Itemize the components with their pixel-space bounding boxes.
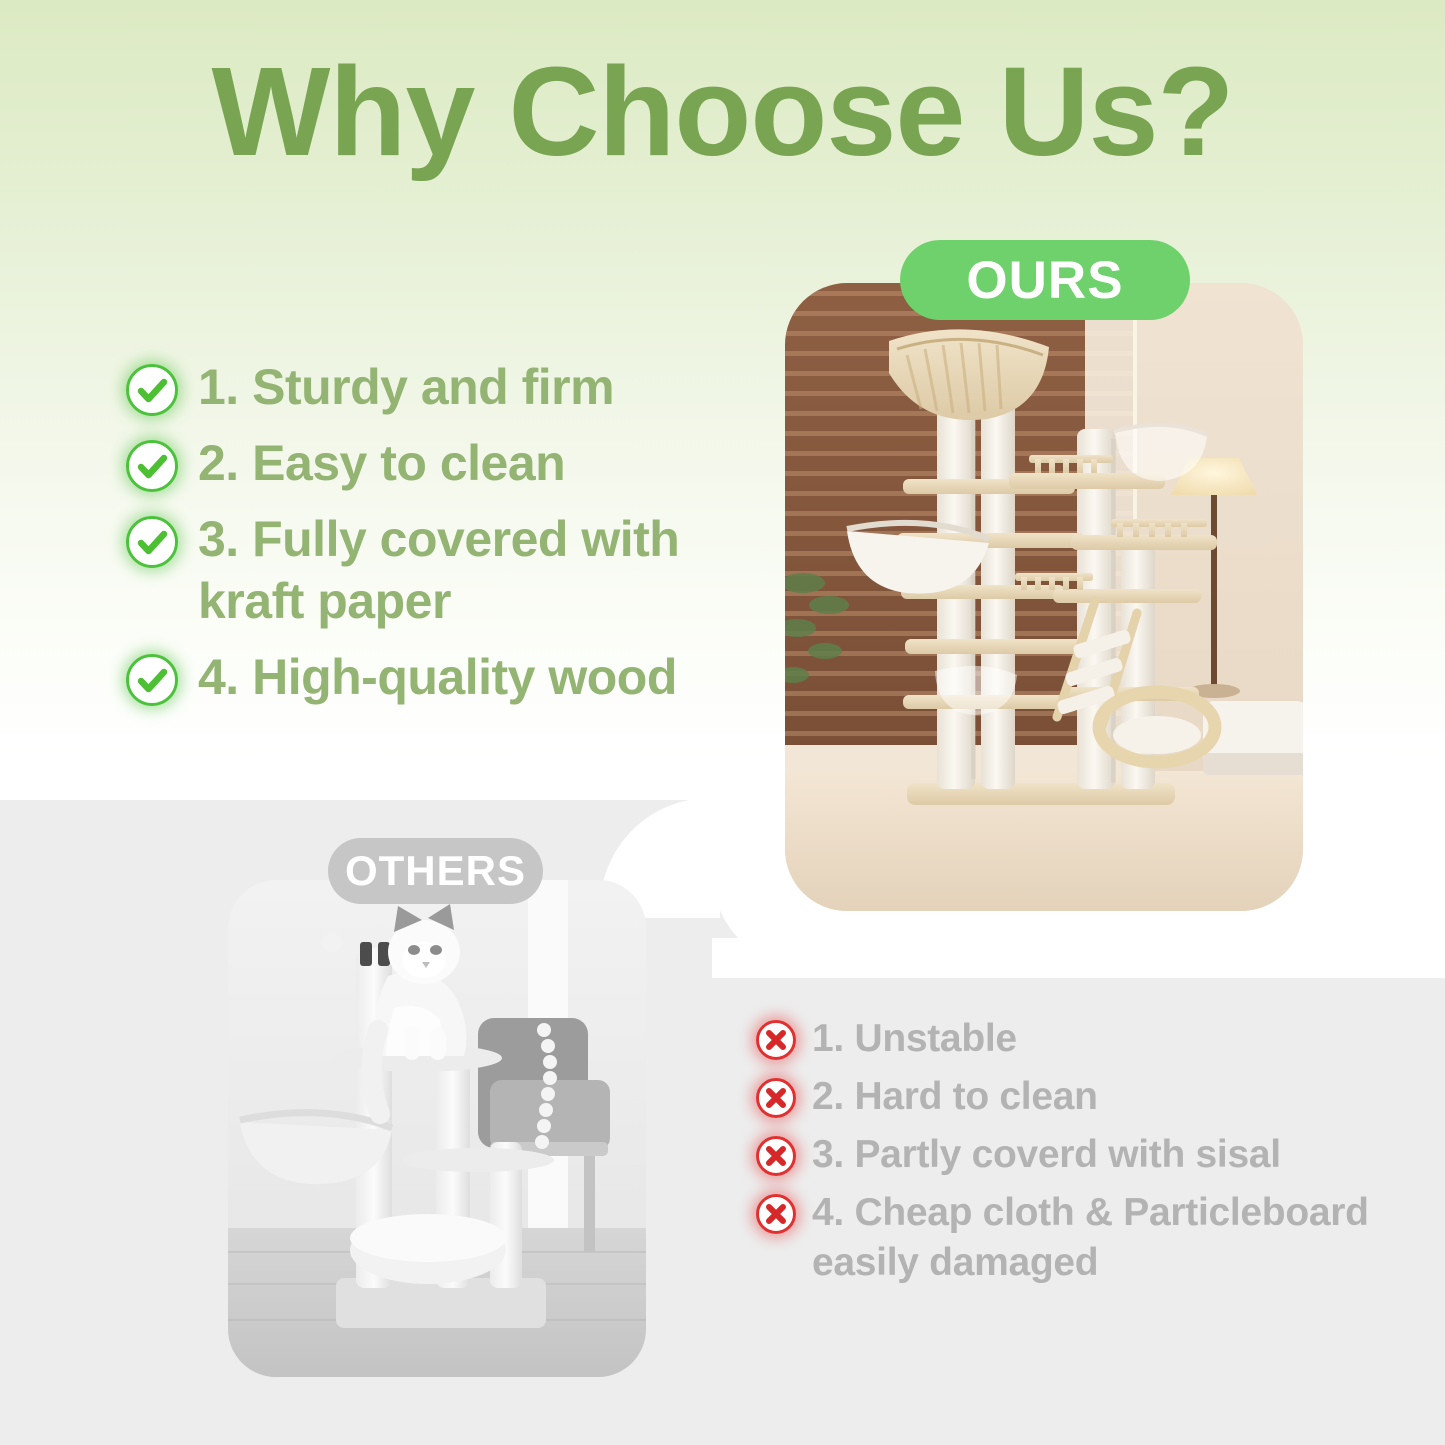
list-item-label: 3. Fully covered with kraft paper <box>198 508 764 632</box>
list-item-label: 1. Unstable <box>812 1014 1017 1064</box>
list-item-label: 2. Hard to clean <box>812 1072 1098 1122</box>
ours-product-photo <box>785 283 1303 911</box>
list-item: 2. Hard to clean <box>754 1072 1414 1122</box>
check-icon <box>124 652 180 708</box>
cross-icon <box>754 1076 798 1120</box>
check-icon <box>124 362 180 418</box>
cross-icon <box>754 1192 798 1236</box>
list-item-label: 4. High-quality wood <box>198 646 677 708</box>
cross-icon <box>754 1018 798 1062</box>
page-title: Why Choose Us? <box>0 46 1445 178</box>
comparison-poster: Why Choose Us? 1. Sturdy and firm 2. Eas… <box>0 0 1445 1445</box>
cross-icon <box>754 1134 798 1178</box>
check-icon <box>124 514 180 570</box>
list-item: 1. Sturdy and firm <box>124 356 764 418</box>
list-item: 2. Easy to clean <box>124 432 764 494</box>
list-item: 1. Unstable <box>754 1014 1414 1064</box>
list-item-label: 3. Partly coverd with sisal <box>812 1130 1281 1180</box>
list-item-label: 4. Cheap cloth & Particleboard easily da… <box>812 1188 1414 1288</box>
pros-list: 1. Sturdy and firm 2. Easy to clean 3. F… <box>124 356 764 722</box>
list-item: 4. High-quality wood <box>124 646 764 708</box>
list-item: 4. Cheap cloth & Particleboard easily da… <box>754 1188 1414 1288</box>
background-white-right-cap <box>712 938 1445 978</box>
ours-badge: OURS <box>900 240 1190 320</box>
cons-list: 1. Unstable 2. Hard to clean 3. Partly c… <box>754 1014 1414 1296</box>
others-product-photo <box>228 880 646 1377</box>
check-icon <box>124 438 180 494</box>
others-badge: OTHERS <box>328 838 543 904</box>
list-item-label: 1. Sturdy and firm <box>198 356 614 418</box>
list-item: 3. Partly coverd with sisal <box>754 1130 1414 1180</box>
list-item-label: 2. Easy to clean <box>198 432 565 494</box>
list-item: 3. Fully covered with kraft paper <box>124 508 764 632</box>
